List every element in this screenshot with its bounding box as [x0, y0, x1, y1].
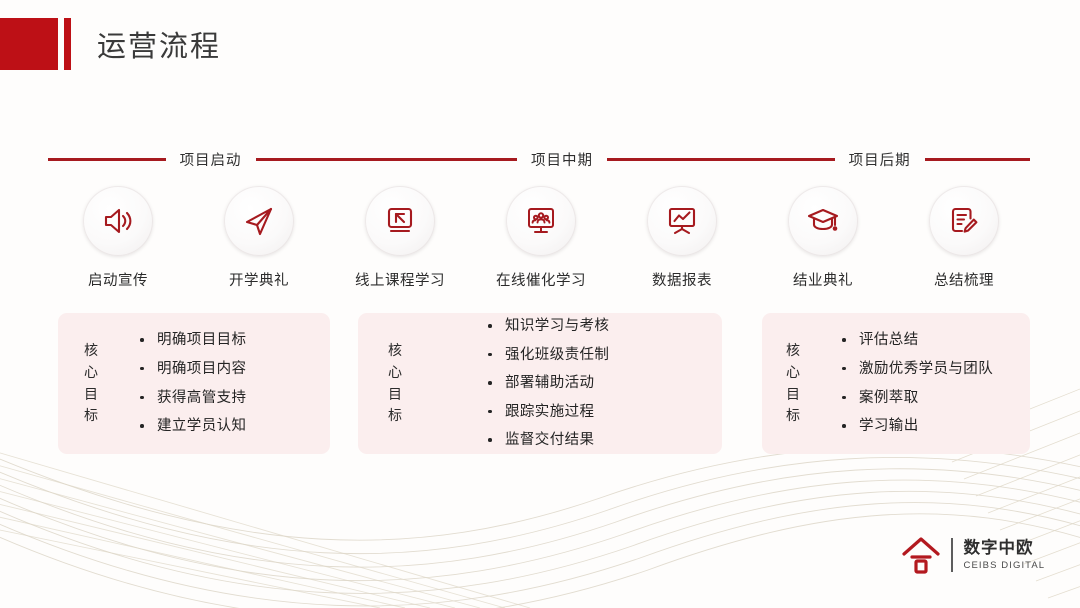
list-item: 获得高管支持: [138, 384, 246, 413]
goal-box-phase-3: 核 心 目 标 评估总结 激励优秀学员与团队 案例萃取 学习输出: [762, 313, 1030, 454]
list-item: 监督交付结果: [486, 426, 609, 455]
process-step-6-label: 结业典礼: [793, 269, 853, 290]
vlabel-char: 目: [388, 384, 402, 406]
list-item: 案例萃取: [840, 384, 993, 413]
graduation-cap-icon: [788, 186, 858, 256]
vlabel-char: 目: [786, 384, 800, 406]
process-step-7-label: 总结梳理: [934, 269, 994, 290]
process-step-1[interactable]: 启动宣传: [58, 186, 178, 290]
timeline-segment-4: [925, 158, 1030, 161]
process-step-7[interactable]: 总结梳理: [904, 186, 1024, 290]
process-step-6[interactable]: 结业典礼: [763, 186, 883, 290]
vlabel-char: 核: [786, 340, 800, 362]
goal-box-phase-2: 核 心 目 标 知识学习与考核 强化班级责任制 部署辅助活动 跟踪实施过程 监督…: [358, 313, 722, 454]
monitor-cursor-icon: [365, 186, 435, 256]
timeline-label-phase-2: 项目中期: [517, 149, 607, 170]
list-item: 强化班级责任制: [486, 341, 609, 370]
list-item: 明确项目内容: [138, 355, 246, 384]
timeline: 项目启动 项目中期 项目后期: [48, 150, 1030, 168]
page-title: 运营流程: [97, 23, 221, 65]
vlabel-char: 核: [84, 340, 98, 362]
list-item: 激励优秀学员与团队: [840, 355, 993, 384]
timeline-label-phase-1: 项目启动: [166, 149, 256, 170]
process-step-5[interactable]: 数据报表: [622, 186, 742, 290]
monitor-people-icon: [506, 186, 576, 256]
vlabel-char: 标: [84, 405, 98, 427]
timeline-label-phase-3: 项目后期: [835, 149, 925, 170]
vlabel-char: 核: [388, 340, 402, 362]
goal-box-3-bullet-list: 评估总结 激励优秀学员与团队 案例萃取 学习输出: [840, 326, 993, 440]
title-accent-bar: [64, 18, 71, 70]
list-item: 建立学员认知: [138, 412, 246, 441]
goal-box-3-vertical-label: 核 心 目 标: [776, 340, 810, 427]
logo-name-en: CEIBS DIGITAL: [964, 560, 1046, 571]
he-character-house-icon: [900, 534, 942, 576]
vlabel-char: 标: [388, 405, 402, 427]
process-step-2-label: 开学典礼: [229, 269, 289, 290]
goal-box-2-bullet-list: 知识学习与考核 强化班级责任制 部署辅助活动 跟踪实施过程 监督交付结果: [486, 312, 609, 455]
list-item: 学习输出: [840, 412, 993, 441]
logo-text: 数字中欧 CEIBS DIGITAL: [964, 539, 1046, 571]
process-step-1-label: 启动宣传: [88, 269, 148, 290]
timeline-segment-1: [48, 158, 166, 161]
presentation-chart-icon: [647, 186, 717, 256]
vlabel-char: 心: [786, 362, 800, 384]
goal-box-phase-1: 核 心 目 标 明确项目目标 明确项目内容 获得高管支持 建立学员认知: [58, 313, 330, 454]
list-item: 明确项目目标: [138, 326, 246, 355]
list-item: 跟踪实施过程: [486, 398, 609, 427]
process-step-3[interactable]: 线上课程学习: [340, 186, 460, 290]
timeline-segment-2: [256, 158, 517, 161]
speaker-icon: [83, 186, 153, 256]
list-item: 评估总结: [840, 326, 993, 355]
goal-box-1-bullet-list: 明确项目目标 明确项目内容 获得高管支持 建立学员认知: [138, 326, 246, 440]
process-step-3-label: 线上课程学习: [355, 269, 445, 290]
logo-divider: [951, 538, 953, 572]
page-title-block: 运营流程: [0, 18, 221, 70]
process-step-4-label: 在线催化学习: [496, 269, 586, 290]
process-step-row: 启动宣传 开学典礼 线上课程学习: [48, 186, 1030, 286]
goal-box-2-vertical-label: 核 心 目 标: [378, 340, 412, 427]
logo-name-cn: 数字中欧: [964, 539, 1046, 558]
brand-logo: 数字中欧 CEIBS DIGITAL: [900, 534, 1045, 576]
timeline-segment-3: [607, 158, 835, 161]
list-item: 部署辅助活动: [486, 369, 609, 398]
decorative-background-lines: [0, 0, 1080, 608]
vlabel-char: 标: [786, 405, 800, 427]
vlabel-char: 心: [84, 362, 98, 384]
process-step-5-label: 数据报表: [652, 269, 712, 290]
list-item: 知识学习与考核: [486, 312, 609, 341]
vlabel-char: 心: [388, 362, 402, 384]
goal-box-1-vertical-label: 核 心 目 标: [74, 340, 108, 427]
process-step-4[interactable]: 在线催化学习: [481, 186, 601, 290]
paper-plane-icon: [224, 186, 294, 256]
slide-canvas: 运营流程 项目启动 项目中期 项目后期 启动宣传: [0, 0, 1080, 608]
document-pencil-icon: [929, 186, 999, 256]
title-accent-block: [0, 18, 58, 70]
process-step-2[interactable]: 开学典礼: [199, 186, 319, 290]
vlabel-char: 目: [84, 384, 98, 406]
